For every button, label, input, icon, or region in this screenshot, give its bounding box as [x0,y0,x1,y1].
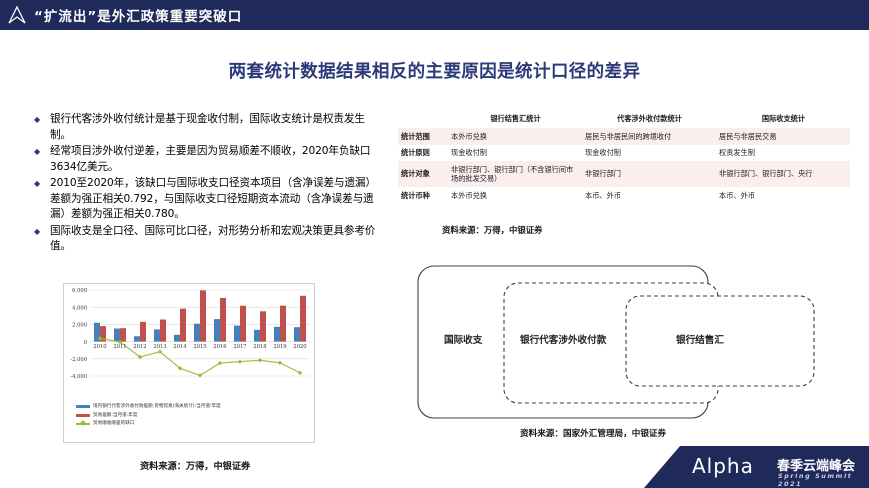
table-cell: 权责发生制 [716,145,850,162]
table-row: 统计范围 本外币兑换 居民与非居民间的跨境收付 居民与非居民交易 [398,128,850,145]
table-col-3: 国际收支统计 [716,110,850,128]
svg-text:2011: 2011 [113,344,126,350]
chart-bar [154,329,160,341]
table-cell: 本外币兑换 [448,187,582,204]
chart-bar [220,298,226,342]
chart-marker [298,371,302,375]
bullet-text: 2010至2020年，该缺口与国际收支口径资本项目（含净误差与遗漏）差额为强正相… [50,176,378,223]
chart-source-note: 资料来源：万得，中银证券 [140,458,250,472]
chart-bar [134,336,140,341]
legend-item: 境内银行代客涉外收付款差额:货物贸易(海关统计):当月值:年度 [76,403,316,410]
table-cell: 居民与非居民交易 [716,128,850,145]
svg-text:-2,000: -2,000 [70,357,87,363]
chart-bar [274,327,280,342]
slide-root: “扩流出”是外汇政策重要突破口 两套统计数据结果相反的主要原因是统计口径的差异 … [0,0,869,488]
comparison-table: 银行结售汇统计 代客涉外收付款统计 国际收支统计 统计范围 本外币兑换 居民与非… [398,110,850,204]
footer-brand: Alpha 春季云端峰会 Spring Summit 2021 [644,446,869,488]
nested-scope-diagram: 国际收支 银行代客涉外收付款 银行结售汇 [408,258,848,426]
legend-swatch-bar-blue [76,405,90,409]
svg-text:2016: 2016 [213,344,226,350]
svg-text:2012: 2012 [133,344,146,350]
chart-canvas: -4,000-2,00002,0004,0006,000 20102011201… [64,284,316,404]
chart-marker [238,359,242,363]
svg-text:0: 0 [84,340,87,346]
chart-bar [174,335,180,342]
svg-text:2019: 2019 [273,344,286,350]
table-row: 统计币种 本外币兑换 本币、外币 本币、外币 [398,187,850,204]
diamond-bullet-icon: ◆ [30,144,50,160]
chart-marker [278,361,282,365]
chart-bar [180,309,186,342]
row-header: 统计范围 [398,128,448,145]
table-col-2: 代客涉外收付款统计 [582,110,716,128]
footer-brand-en: Spring Summit 2021 [778,472,869,488]
chart-bar [280,306,286,342]
chart-bar [260,311,266,341]
bullet-text: 银行代客涉外收付统计是基于现金收付制，国际收支统计是权责发生制。 [50,112,378,143]
diamond-bullet-icon: ◆ [30,112,50,128]
svg-text:2017: 2017 [233,344,246,350]
chart-bar [160,319,166,341]
table-header-row: 银行结售汇统计 代客涉外收付款统计 国际收支统计 [398,110,850,128]
list-item: ◆ 经常项目涉外收付逆差，主要是因为贸易顺差不顺收，2020年负缺口3634亿美… [30,144,378,175]
svg-text:2018: 2018 [253,344,266,350]
table-col-1: 银行结售汇统计 [448,110,582,128]
chart-bar [234,326,240,342]
svg-text:6,000: 6,000 [72,288,87,294]
chart-bar [120,328,126,341]
table-cell: 现金收付制 [448,145,582,162]
chart-bar [240,306,246,342]
table-cell: 现金收付制 [582,145,716,162]
page-title: 两套统计数据结果相反的主要原因是统计口径的差异 [0,58,869,83]
table-row: 统计原则 现金收付制 现金收付制 权责发生制 [398,145,850,162]
header-title: “扩流出”是外汇政策重要突破口 [34,5,242,25]
svg-text:-4,000: -4,000 [70,374,87,380]
chart-bar [294,327,300,341]
svg-text:2010: 2010 [93,344,106,350]
venn-source-note: 资料来源：国家外汇管理局，中银证券 [520,427,666,439]
list-item: ◆ 2010至2020年，该缺口与国际收支口径资本项目（含净误差与遗漏）差额为强… [30,176,378,223]
chart-bar [254,330,260,342]
table-cell: 本外币兑换 [448,128,582,145]
bullet-text: 经常项目涉外收付逆差，主要是因为贸易顺差不顺收，2020年负缺口3634亿美元。 [50,144,378,175]
legend-label: 贸易顺收顺差的缺口 [93,420,134,427]
legend-swatch-line-green [76,423,90,425]
table-cell: 本币、外币 [582,187,716,204]
legend-item: 贸易差额:当月值:年度 [76,412,316,419]
chart-bar [114,329,120,342]
legend-swatch-bar-red [76,414,90,418]
list-item: ◆ 银行代客涉外收付统计是基于现金收付制，国际收支统计是权责发生制。 [30,112,378,143]
diamond-bullet-icon: ◆ [30,176,50,192]
venn-label-inner: 银行结售汇 [676,332,724,346]
table-source-note: 资料来源：万得，中银证券 [442,224,543,236]
table-col-blank [398,110,448,128]
venn-label-outer: 国际收支 [444,332,482,346]
footer-brand-name: Alpha [692,454,754,478]
table-cell: 非银行部门、银行部门、央行 [716,161,850,187]
row-header: 统计币种 [398,187,448,204]
svg-text:2014: 2014 [173,344,187,350]
bullet-list: ◆ 银行代客涉外收付统计是基于现金收付制，国际收支统计是权责发生制。 ◆ 经常项… [30,112,378,256]
table-cell: 非银行部门、银行部门（不含银行间市场的批发交易） [448,161,582,187]
table-cell: 非银行部门 [582,161,716,187]
chart-bar [214,319,220,342]
list-item: ◆ 国际收支是全口径、国际可比口径，对形势分析和宏观决策更具参考价值。 [30,224,378,255]
chart-bar [200,290,206,341]
diamond-bullet-icon: ◆ [30,224,50,240]
legend-item: 贸易顺收顺差的缺口 [76,420,316,427]
svg-text:2013: 2013 [153,344,166,350]
slide-header: “扩流出”是外汇政策重要突破口 [0,0,869,30]
chart-bar [140,322,146,342]
chart-bar [300,296,306,342]
svg-text:2015: 2015 [193,344,206,350]
svg-text:2,000: 2,000 [72,323,87,329]
legend-label: 贸易差额:当月值:年度 [93,412,137,419]
trade-gap-chart: -4,000-2,00002,0004,0006,000 20102011201… [63,283,315,443]
table-row: 统计对象 非银行部门、银行部门（不含银行间市场的批发交易） 非银行部门 非银行部… [398,161,850,187]
venn-label-middle: 银行代客涉外收付款 [520,332,606,346]
svg-text:4,000: 4,000 [72,305,87,311]
svg-text:2020: 2020 [293,344,306,350]
table-cell: 居民与非居民间的跨境收付 [582,128,716,145]
bullet-text: 国际收支是全口径、国际可比口径，对形势分析和宏观决策更具参考价值。 [50,224,378,255]
triangle-outline-icon [0,0,34,30]
legend-label: 境内银行代客涉外收付款差额:货物贸易(海关统计):当月值:年度 [93,403,221,410]
row-header: 统计原则 [398,145,448,162]
chart-bar [194,324,200,342]
chart-legend: 境内银行代客涉外收付款差额:货物贸易(海关统计):当月值:年度 贸易差额:当月值… [76,403,316,429]
table-cell: 本币、外币 [716,187,850,204]
row-header: 统计对象 [398,161,448,187]
